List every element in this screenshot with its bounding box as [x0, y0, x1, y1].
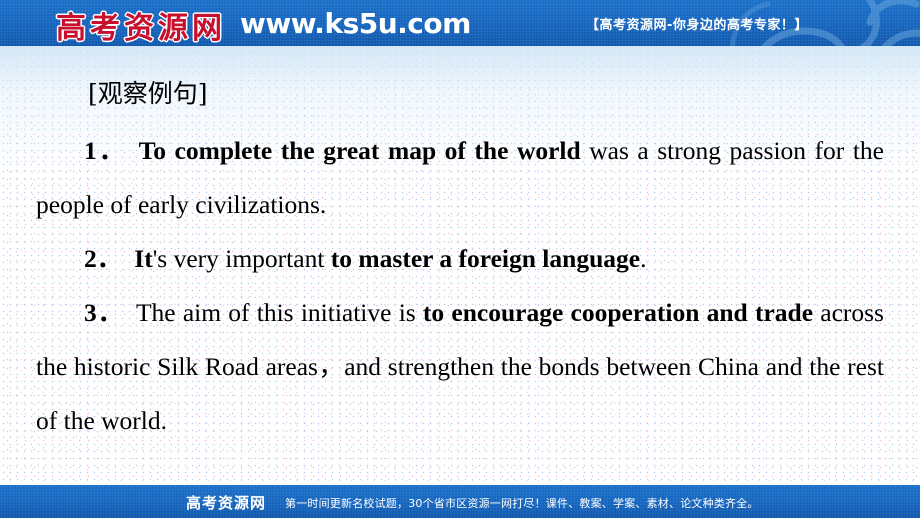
- site-footer-banner: 高考资源网 第一时间更新名校试题，30个省市区资源一网打尽！课件、教案、学案、素…: [0, 485, 920, 518]
- sentence-bold-fragment: to encourage cooperation and trade: [423, 298, 813, 327]
- sentence-number: 2．: [84, 244, 122, 273]
- site-logo-chinese: 高考资源网: [56, 3, 226, 46]
- example-sentence: 2．It's very important to master a foreig…: [36, 232, 884, 286]
- sentence-number: 1．: [84, 136, 127, 165]
- site-url-text: www.ks5u.com: [240, 7, 471, 40]
- sentence-text-fragment: .: [640, 244, 646, 273]
- footer-brand-name: 高考资源网: [186, 492, 266, 513]
- slide-content-area: [观察例句] 1．To complete the great map of th…: [0, 46, 920, 488]
- example-sentence-list: 1．To complete the great map of the world…: [36, 124, 884, 448]
- sentence-text-fragment: 's very important: [153, 244, 331, 273]
- sentence-text-fragment: The aim of this initiative is: [136, 298, 423, 327]
- slide-page: 高考资源网 www.ks5u.com 【高考资源网-你身边的高考专家！】 [观察…: [0, 0, 920, 518]
- sentence-bold-fragment: To complete the great map of the world: [139, 136, 581, 165]
- sentence-bold-fragment: to master a foreign language: [331, 244, 640, 273]
- sentence-bold-fragment: It: [134, 244, 152, 273]
- section-heading: [观察例句]: [88, 74, 208, 110]
- site-header-banner: 高考资源网 www.ks5u.com 【高考资源网-你身边的高考专家！】: [0, 0, 920, 46]
- example-sentence: 3．The aim of this initiative is to encou…: [36, 286, 884, 448]
- footer-promo-text: 第一时间更新名校试题，30个省市区资源一网打尽！课件、教案、学案、素材、论文种类…: [285, 495, 759, 511]
- site-tagline: 【高考资源网-你身边的高考专家！】: [586, 14, 808, 33]
- sentence-number: 3．: [84, 298, 124, 327]
- example-sentence: 1．To complete the great map of the world…: [36, 124, 884, 232]
